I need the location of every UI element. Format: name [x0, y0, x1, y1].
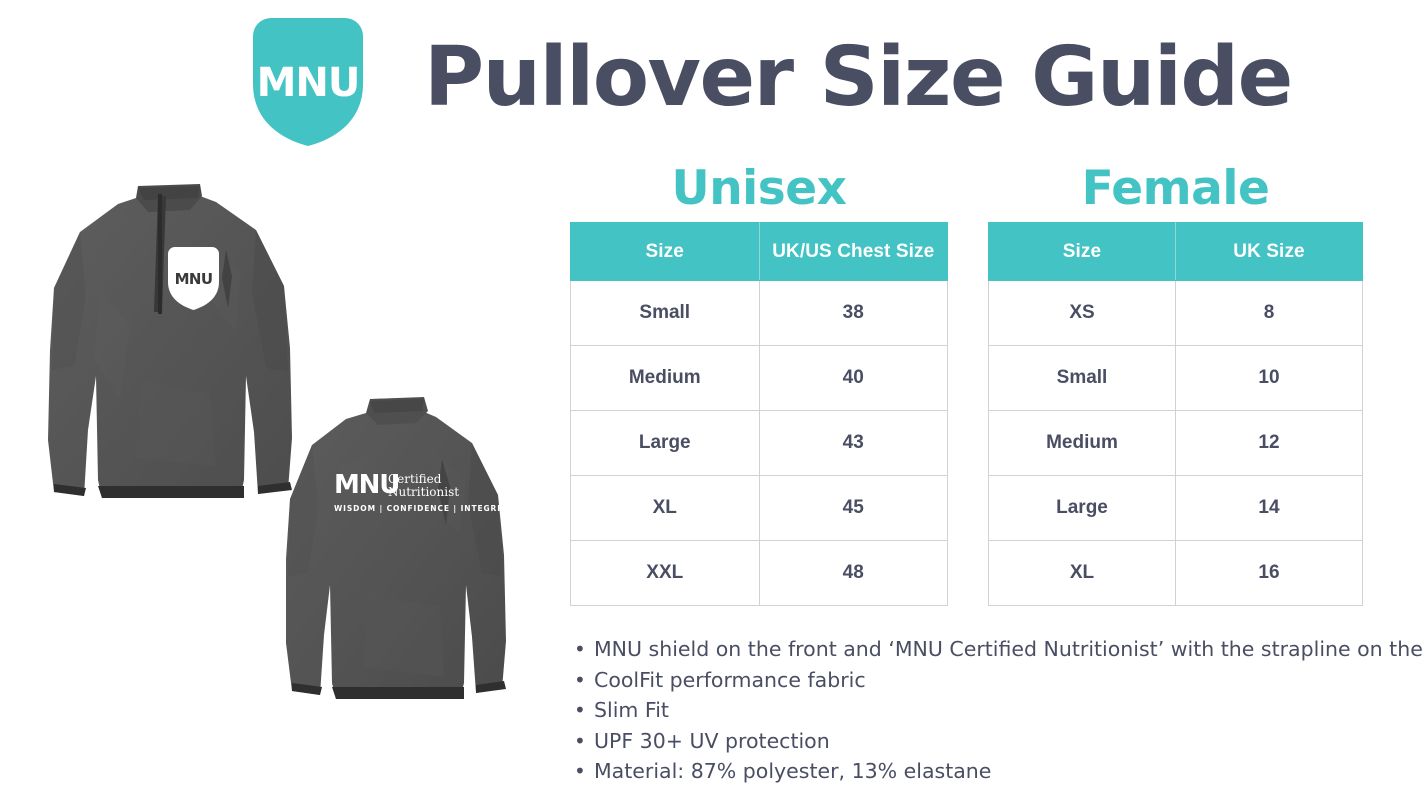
- size-guide-page: MNU Pullover Size Guide: [0, 0, 1422, 800]
- page-header: MNU Pullover Size Guide: [0, 0, 1422, 152]
- product-feature-list: MNU shield on the front and ‘MNU Certifi…: [572, 634, 1392, 787]
- cell-measurement: 48: [759, 541, 948, 606]
- svg-text:Nutritionist: Nutritionist: [388, 485, 459, 499]
- column-header-size: Size: [989, 223, 1176, 281]
- table-header-row: Size UK Size: [989, 223, 1363, 281]
- list-item: MNU shield on the front and ‘MNU Certifi…: [572, 634, 1392, 665]
- table-row: Medium 12: [989, 411, 1363, 476]
- list-item: Material: 87% polyester, 13% elastane: [572, 756, 1392, 787]
- list-item: Slim Fit: [572, 695, 1392, 726]
- table-row: Large 43: [571, 411, 948, 476]
- female-size-table-block: Female Size UK Size XS 8 Small 10 Medium: [988, 160, 1363, 606]
- mnu-shield-logo-icon: MNU: [253, 18, 363, 146]
- cell-measurement: 38: [759, 281, 948, 346]
- unisex-table-heading: Unisex: [570, 160, 948, 218]
- cell-size: Medium: [571, 346, 760, 411]
- list-item: UPF 30+ UV protection: [572, 726, 1392, 757]
- column-header-uk-size: UK Size: [1176, 223, 1363, 281]
- cell-measurement: 45: [759, 476, 948, 541]
- list-item: CoolFit performance fabric: [572, 665, 1392, 696]
- cell-measurement: 14: [1176, 476, 1363, 541]
- page-title: Pullover Size Guide: [424, 26, 1292, 130]
- pullover-back-illustration: MNU Certified Nutritionist WISDOM | CONF…: [280, 395, 530, 725]
- table-header-row: Size UK/US Chest Size: [571, 223, 948, 281]
- table-row: XXL 48: [571, 541, 948, 606]
- cell-size: XS: [989, 281, 1176, 346]
- unisex-size-table-block: Unisex Size UK/US Chest Size Small 38 Me…: [570, 160, 948, 606]
- female-table-heading: Female: [988, 160, 1363, 218]
- cell-size: XL: [571, 476, 760, 541]
- cell-measurement: 40: [759, 346, 948, 411]
- cell-measurement: 16: [1176, 541, 1363, 606]
- svg-text:WISDOM | CONFIDENCE | INTEGRIT: WISDOM | CONFIDENCE | INTEGRITY: [334, 504, 513, 514]
- table-row: XL 45: [571, 476, 948, 541]
- table-row: XL 16: [989, 541, 1363, 606]
- cell-measurement: 43: [759, 411, 948, 476]
- cell-measurement: 8: [1176, 281, 1363, 346]
- table-row: XS 8: [989, 281, 1363, 346]
- cell-size: Small: [571, 281, 760, 346]
- table-row: Small 38: [571, 281, 948, 346]
- cell-size: XL: [989, 541, 1176, 606]
- unisex-size-table: Size UK/US Chest Size Small 38 Medium 40…: [570, 222, 948, 606]
- svg-text:Certified: Certified: [388, 472, 442, 486]
- garment-illustrations: MNU: [20, 160, 560, 780]
- table-row: Large 14: [989, 476, 1363, 541]
- column-header-size: Size: [571, 223, 760, 281]
- cell-measurement: 12: [1176, 411, 1363, 476]
- cell-size: XXL: [571, 541, 760, 606]
- svg-text:MNU: MNU: [175, 270, 213, 288]
- svg-text:MNU: MNU: [257, 60, 360, 106]
- cell-measurement: 10: [1176, 346, 1363, 411]
- cell-size: Small: [989, 346, 1176, 411]
- female-size-table: Size UK Size XS 8 Small 10 Medium 12: [988, 222, 1363, 606]
- table-row: Small 10: [989, 346, 1363, 411]
- column-header-chest-size: UK/US Chest Size: [759, 223, 948, 281]
- table-row: Medium 40: [571, 346, 948, 411]
- cell-size: Medium: [989, 411, 1176, 476]
- cell-size: Large: [989, 476, 1176, 541]
- cell-size: Large: [571, 411, 760, 476]
